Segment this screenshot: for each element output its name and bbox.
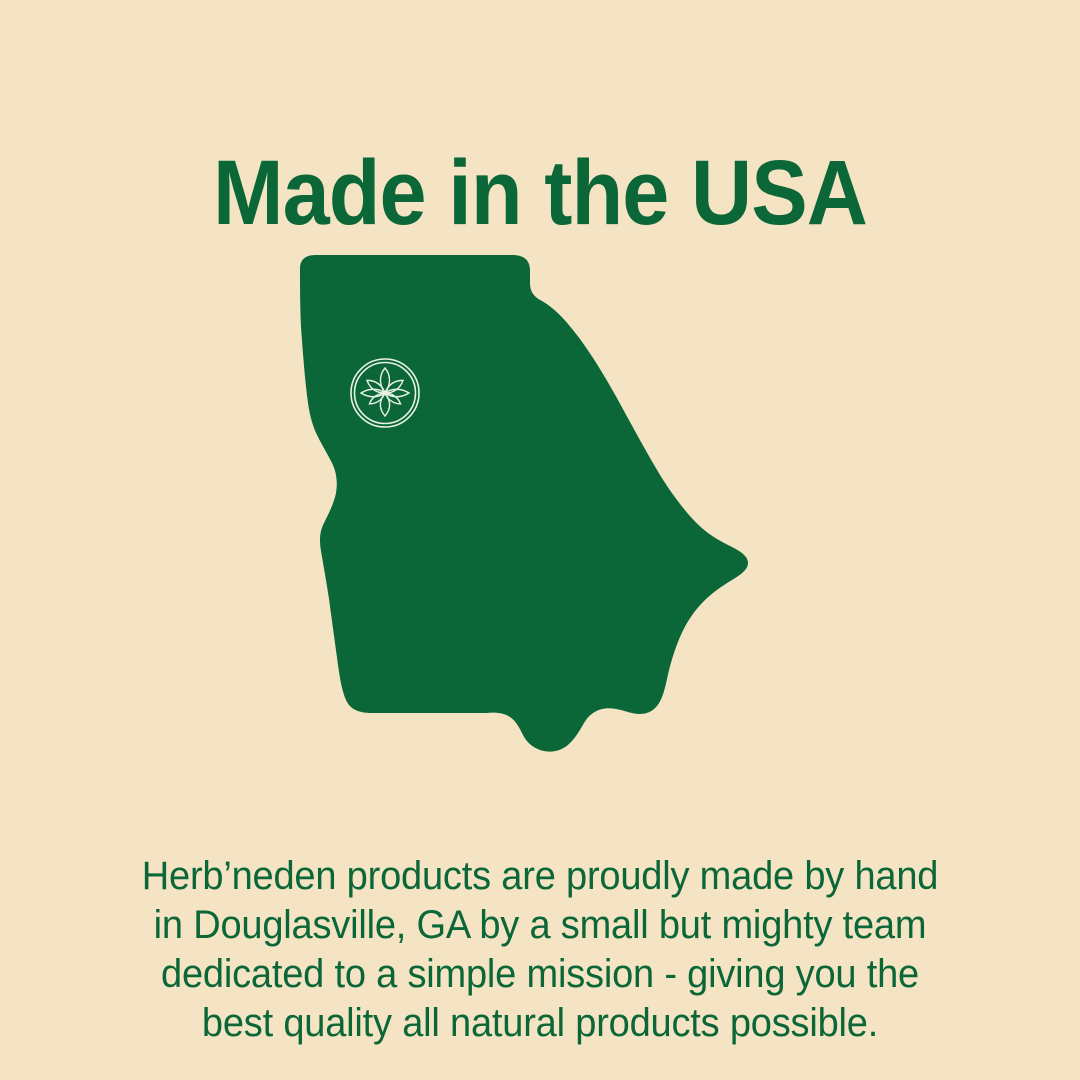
georgia-state-shape-svg: [280, 243, 800, 773]
body-copy: Herb’neden products are proudly made by …: [0, 852, 1080, 1048]
made-in-usa-card: Made in the USA: [0, 0, 1080, 1080]
body-copy-line: dedicated to a simple mission - giving y…: [27, 950, 1053, 999]
body-copy-line: best quality all natural products possib…: [27, 999, 1053, 1048]
georgia-map-illustration: [0, 243, 1080, 773]
body-copy-line: Herb’neden products are proudly made by …: [27, 852, 1053, 901]
body-copy-line: in Douglasville, GA by a small but might…: [27, 901, 1053, 950]
georgia-state-path: [300, 255, 748, 752]
page-title: Made in the USA: [43, 138, 1037, 248]
